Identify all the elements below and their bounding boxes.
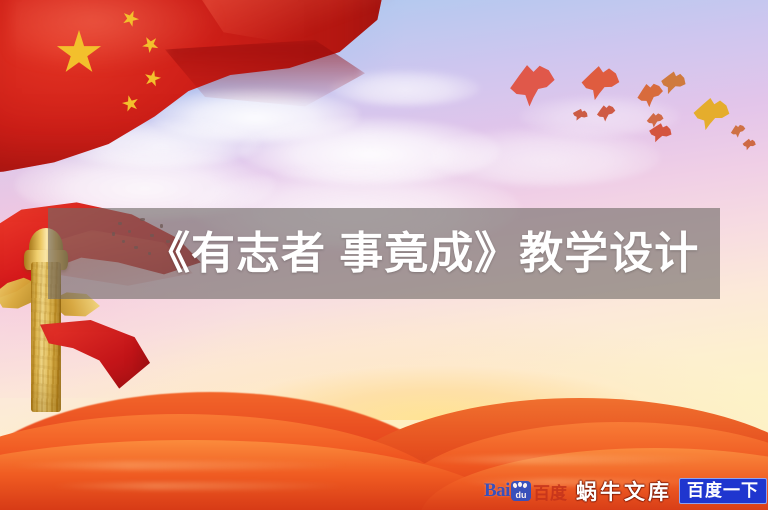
baidu-chinese-wordmark: 百度 <box>533 479 567 504</box>
site-name: 蜗牛文库 <box>576 476 672 506</box>
baidu-search-button[interactable]: 百度一下 <box>679 478 767 504</box>
watermark-bar: Bai du 百度 蜗牛文库 百度一下 <box>484 478 767 504</box>
silk-fold <box>420 455 720 464</box>
silk-fold <box>10 461 350 470</box>
baidu-logo[interactable]: Bai du 百度 <box>484 480 567 502</box>
paw-pad <box>513 483 518 489</box>
paw-label: du <box>511 491 531 500</box>
paw-icon: du <box>511 481 531 501</box>
page-title: 《有志者 事竟成》教学设计 <box>146 232 699 276</box>
paw-pad <box>523 483 528 489</box>
poster-image: 《有志者 事竟成》教学设计 Bai du 百度 蜗牛文库 百度一下 <box>0 0 768 510</box>
silk-fold <box>50 482 350 490</box>
title-banner: 《有志者 事竟成》教学设计 <box>48 208 720 299</box>
baidu-wordmark: Bai <box>484 480 510 502</box>
chinese-national-flag <box>0 0 390 190</box>
